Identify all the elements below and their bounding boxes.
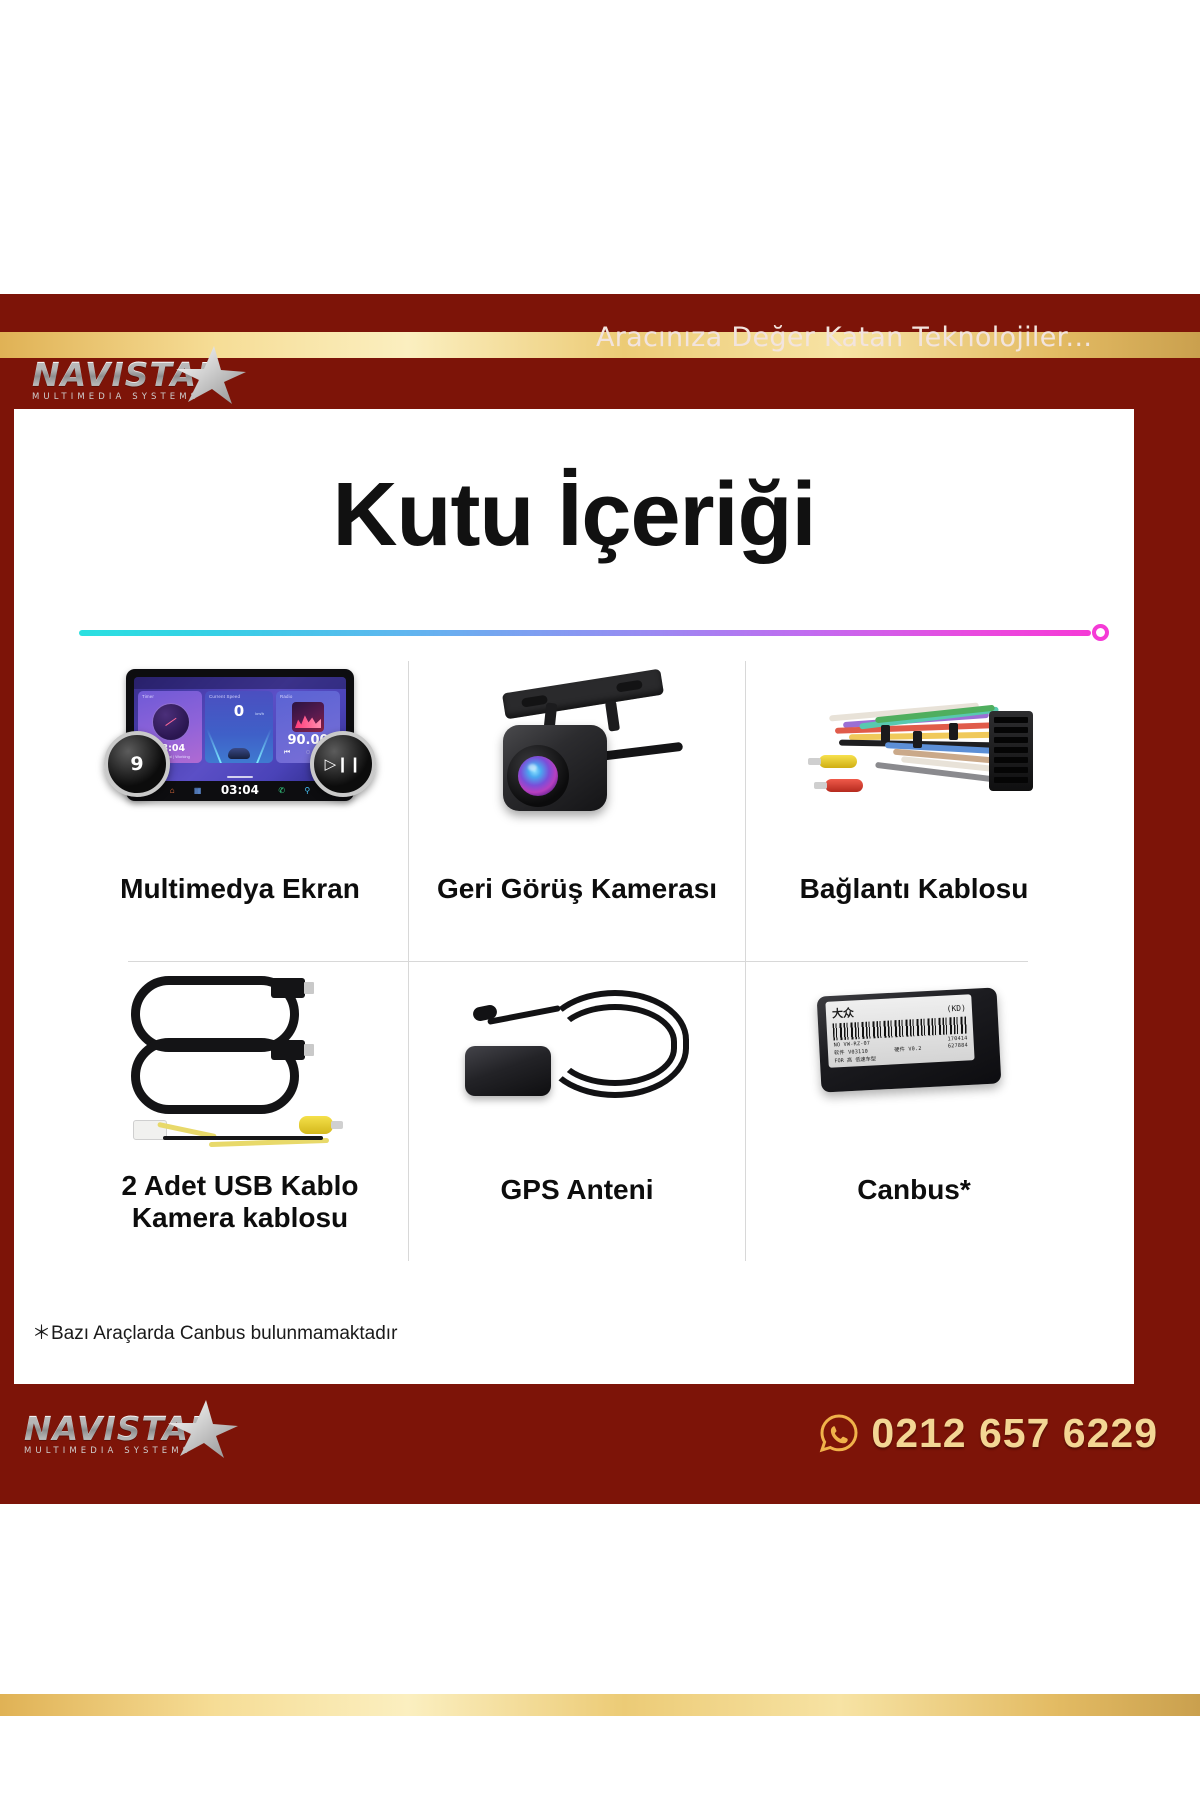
canbus-line2-mid: 硬件 V0.2 bbox=[894, 1045, 922, 1053]
item-geri-gorus-kamerasi[interactable]: Geri Görüş Kamerası bbox=[409, 661, 745, 961]
header: NAVISTAR MULTIMEDIA SYSTEMS Aracınıza De… bbox=[0, 294, 1200, 404]
prev-track-icon: ⏮ bbox=[284, 749, 290, 757]
rca-red-connector bbox=[825, 779, 863, 792]
item-label: Multimedya Ekran bbox=[72, 873, 408, 905]
phone-icon: ✆ bbox=[278, 786, 285, 795]
whatsapp-icon bbox=[817, 1412, 861, 1456]
wiring-harness-icon bbox=[746, 661, 1082, 861]
whatsapp-contact[interactable]: 0212 657 6229 bbox=[817, 1410, 1158, 1457]
gradient-divider bbox=[79, 624, 1109, 642]
apps-icon: ▦ bbox=[194, 786, 202, 795]
iso-connector bbox=[989, 711, 1033, 791]
widget-timer-title: Timer bbox=[142, 694, 154, 699]
brand-logo-footer: NAVISTAR MULTIMEDIA SYSTEMS bbox=[24, 1412, 215, 1456]
divider-endpoint-dot bbox=[1092, 624, 1109, 641]
item-label: 2 Adet USB Kablo Kamera kablosu bbox=[72, 1170, 408, 1233]
brand-logo-header: NAVISTAR MULTIMEDIA SYSTEMS bbox=[32, 358, 223, 402]
footnote: ＊Bazı Araçlarda Canbus bulunmamaktadır bbox=[32, 1318, 397, 1345]
canbus-brand-cn: 大众 bbox=[832, 1004, 855, 1021]
play-knob-label: ▷❙❙ bbox=[325, 755, 362, 773]
widget-radio-title: Radio bbox=[280, 694, 292, 699]
widget-speed-title: Current Speed bbox=[209, 694, 240, 699]
poster-root: NAVISTAR MULTIMEDIA SYSTEMS Aracınıza De… bbox=[0, 0, 1200, 1800]
item-label: GPS Anteni bbox=[409, 1174, 745, 1206]
item-canbus[interactable]: 大众 (KD) NO VW-RZ-07 170414 软件 V03110 硬件 … bbox=[746, 962, 1082, 1262]
mic-icon: ⚲ bbox=[304, 786, 310, 795]
star-icon bbox=[174, 344, 248, 406]
reverse-camera-icon bbox=[409, 661, 745, 861]
search-icon: ◌ bbox=[306, 749, 310, 757]
canbus-line2-right: 627884 bbox=[948, 1042, 968, 1050]
widget-speed-unit: km/h bbox=[255, 711, 264, 716]
canbus-module-icon: 大众 (KD) NO VW-RZ-07 170414 软件 V03110 硬件 … bbox=[746, 962, 1082, 1162]
rca-yellow-camera-connector bbox=[299, 1116, 333, 1134]
page-title: Kutu İçeriği bbox=[14, 464, 1134, 567]
footer: NAVISTAR MULTIMEDIA SYSTEMS 0212 657 622… bbox=[0, 1384, 1200, 1504]
item-label: Canbus* bbox=[746, 1174, 1082, 1206]
gold-divider-bottom bbox=[0, 1694, 1200, 1716]
play-knob: ▷❙❙ bbox=[310, 731, 376, 797]
car-head-unit-icon: Timer 03:04 10 Ocak Sal | Working Curren… bbox=[72, 661, 408, 861]
volume-knob-label: 9 bbox=[130, 753, 143, 775]
star-icon bbox=[166, 1398, 240, 1460]
header-tagline: Aracınıza Değer Katan Teknolojiler... bbox=[596, 322, 1092, 353]
home-icon: ⌂ bbox=[170, 786, 175, 795]
canbus-line1-right: 170414 bbox=[947, 1035, 967, 1042]
canbus-barcode-label: 大众 (KD) NO VW-RZ-07 170414 软件 V03110 硬件 … bbox=[825, 994, 974, 1068]
item-multimedya-ekran[interactable]: Timer 03:04 10 Ocak Sal | Working Curren… bbox=[72, 661, 408, 961]
canbus-kd: (KD) bbox=[946, 1004, 966, 1014]
item-label: Bağlantı Kablosu bbox=[746, 873, 1082, 905]
item-label: Geri Görüş Kamerası bbox=[409, 873, 745, 905]
rca-yellow-connector bbox=[819, 755, 857, 768]
item-gps-anteni[interactable]: GPS Anteni bbox=[409, 962, 745, 1262]
contents-grid: Timer 03:04 10 Ocak Sal | Working Curren… bbox=[72, 661, 1082, 1301]
item-baglanti-kablosu[interactable]: Bağlantı Kablosu bbox=[746, 661, 1082, 961]
phone-number: 0212 657 6229 bbox=[871, 1410, 1158, 1457]
gps-antenna-icon bbox=[409, 962, 745, 1162]
canbus-line1-left: NO VW-RZ-07 bbox=[833, 1040, 870, 1048]
item-usb-kablo[interactable]: 2 Adet USB Kablo Kamera kablosu bbox=[72, 962, 408, 1262]
usb-cables-icon bbox=[72, 962, 408, 1162]
volume-knob: 9 bbox=[104, 731, 170, 797]
divider-line bbox=[79, 630, 1091, 636]
content-card: Kutu İçeriği bbox=[14, 409, 1134, 1384]
head-unit-clock: 03:04 bbox=[221, 783, 259, 797]
